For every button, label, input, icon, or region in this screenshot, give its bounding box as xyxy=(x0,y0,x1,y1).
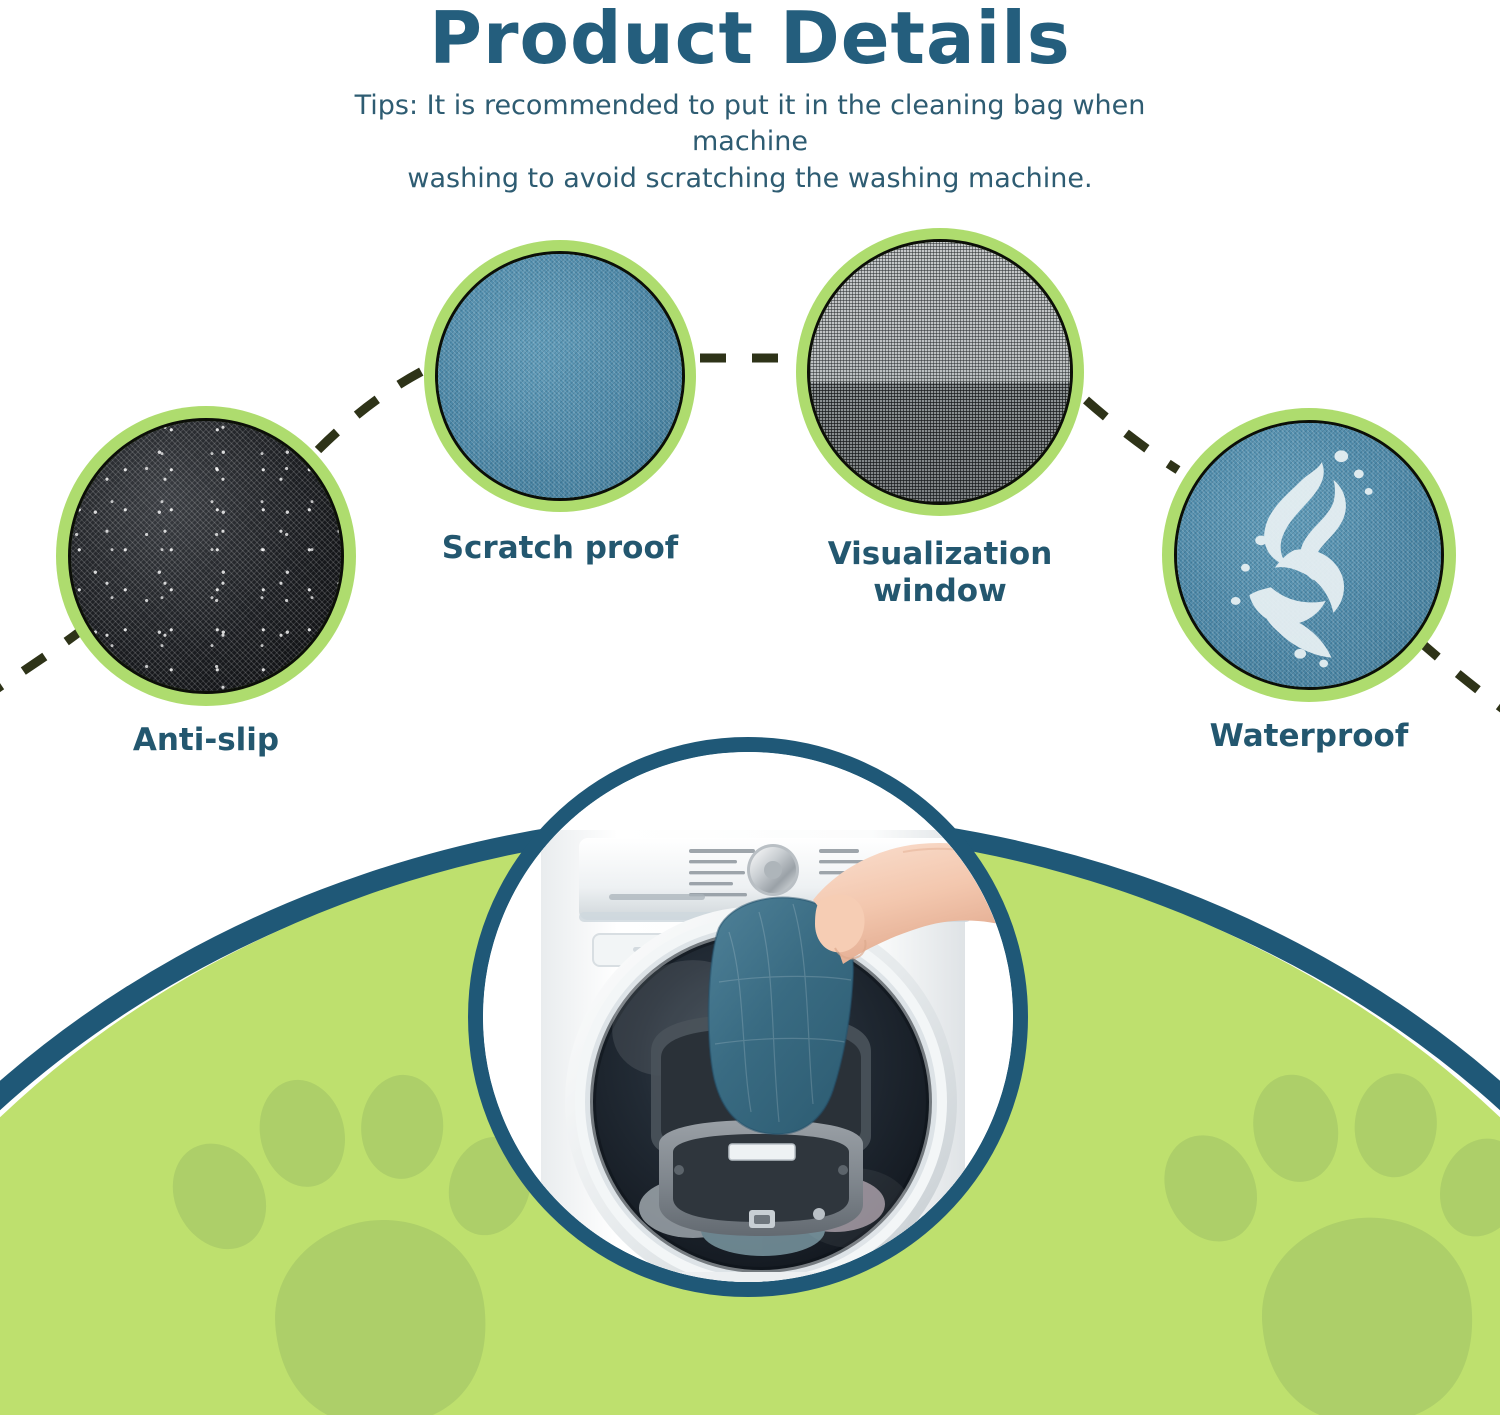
feature-scratch-proof: Scratch proof xyxy=(424,240,696,512)
brand-text xyxy=(609,894,705,900)
anti-slip-circle xyxy=(56,406,356,706)
anti-slip-label: Anti-slip xyxy=(56,722,356,759)
visualization-window-label-line-2: window xyxy=(796,573,1084,610)
product-details-infographic: Product Details Tips: It is recommended … xyxy=(0,0,1500,1415)
blue-linen-fabric-icon xyxy=(438,254,682,498)
scratch-proof-label: Scratch proof xyxy=(424,530,696,567)
visualization-window-label-line-1: Visualization xyxy=(796,536,1084,573)
visualization-window-circle xyxy=(796,228,1084,516)
feature-anti-slip: Anti-slip xyxy=(56,406,356,706)
page-title: Product Details xyxy=(0,0,1500,74)
feature-waterproof: Waterproof xyxy=(1162,408,1456,702)
visualization-window-label: Visualization window xyxy=(796,536,1084,609)
waterproof-circle xyxy=(1162,408,1456,702)
scratch-proof-texture xyxy=(435,251,685,501)
waterproof-label: Waterproof xyxy=(1162,718,1456,755)
program-selector-knob[interactable] xyxy=(747,844,799,896)
header: Product Details Tips: It is recommended … xyxy=(0,0,1500,197)
mesh-window-icon xyxy=(810,242,1070,502)
tips-line-2: washing to avoid scratching the washing … xyxy=(310,161,1190,197)
tips-line-1: Tips: It is recommended to put it in the… xyxy=(310,88,1190,161)
anti-slip-texture xyxy=(68,418,344,694)
anti-slip-fabric-icon xyxy=(71,421,341,691)
tips-text: Tips: It is recommended to put it in the… xyxy=(310,88,1190,197)
blue-linen-fabric-icon xyxy=(1177,423,1441,687)
visualization-window-texture xyxy=(807,239,1073,505)
scratch-proof-circle xyxy=(424,240,696,512)
hero-photo-circle xyxy=(468,737,1028,1297)
feature-visualization-window: Visualization window xyxy=(796,228,1084,516)
washing-machine-illustration xyxy=(483,752,1013,1282)
waterproof-texture xyxy=(1174,420,1444,690)
washing-machine-photo xyxy=(483,752,1013,1282)
